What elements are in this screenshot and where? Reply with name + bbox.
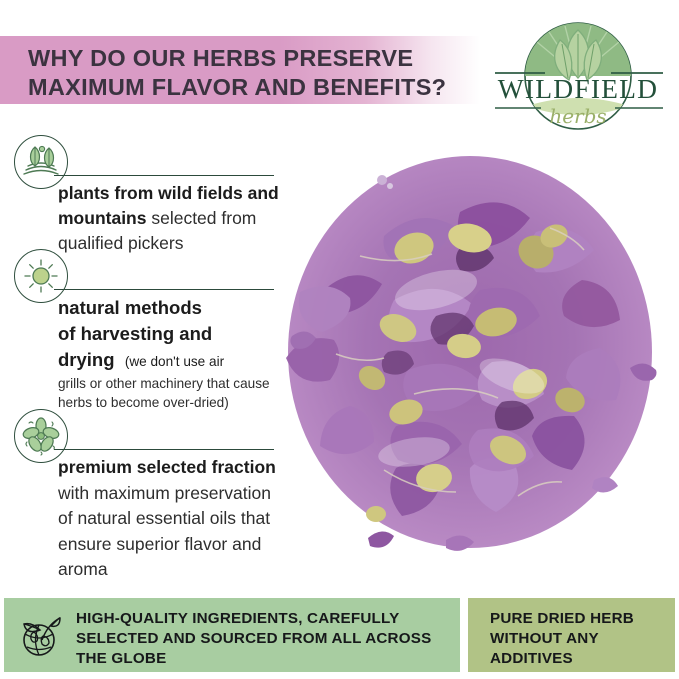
logo-script-text: herbs	[549, 104, 606, 128]
banner-pure-dried-herb: PURE DRIED HERB WITHOUT ANY ADDITIVES	[468, 598, 675, 672]
feature-lead-line3: drying	[58, 349, 115, 370]
infographic-canvas: WHY DO OUR HERBS PRESERVE MAXIMUM FLAVOR…	[0, 0, 679, 679]
dried-purple-mallow-flowers	[264, 140, 676, 560]
page-title-line1: WHY DO OUR HERBS PRESERVE	[28, 45, 413, 71]
banner-left-text: HIGH-QUALITY INGREDIENTS, CAREFULLY SELE…	[76, 609, 451, 669]
banner-high-quality-ingredients: HIGH-QUALITY INGREDIENTS, CAREFULLY SELE…	[4, 598, 460, 672]
banner-right-text: PURE DRIED HERB WITHOUT ANY ADDITIVES	[490, 609, 670, 669]
brand-logo: WILDFIELD herbs	[487, 20, 669, 132]
feature-text-natural-methods: natural methods of harvesting and drying…	[58, 295, 290, 412]
page-title: WHY DO OUR HERBS PRESERVE MAXIMUM FLAVOR…	[28, 44, 498, 102]
globe-leaf-icon	[18, 612, 66, 660]
feature-lead-line1: natural methods	[58, 295, 290, 321]
feature-text-premium-fraction: premium selected fraction with maximum p…	[58, 455, 290, 583]
feature-divider	[54, 175, 274, 176]
feature-text-wild-fields: plants from wild fields and mountains se…	[58, 181, 290, 256]
feature-lead: premium selected fraction	[58, 457, 276, 477]
feature-lead-line3-row: drying (we don't use air	[58, 347, 290, 375]
feature-divider	[54, 289, 274, 290]
feature-lead-line2: of harvesting and	[58, 321, 290, 347]
logo-brand-text: WILDFIELD	[498, 73, 658, 104]
page-title-line2: MAXIMUM FLAVOR AND BENEFITS?	[28, 73, 498, 102]
feature-paren-tail: grills or other machinery that cause her…	[58, 375, 290, 412]
feature-rest: with maximum preservation of natural ess…	[58, 483, 271, 580]
feature-divider	[54, 449, 274, 450]
feature-paren-start: (we don't use air	[125, 354, 224, 369]
